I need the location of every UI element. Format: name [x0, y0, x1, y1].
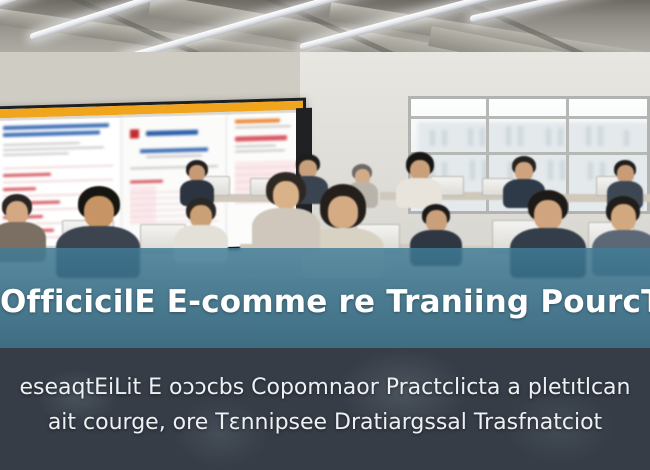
- screenshot-root: OfficicilE E-comme re Traniing PourcTaiw…: [0, 0, 650, 470]
- subtitle-band: eseaqtEiLit E oɔɔcbs Copomnaor Practclic…: [0, 348, 650, 470]
- title-band: OfficicilE E-comme re Traniing PourcTaiw…: [0, 248, 650, 348]
- site-logo-icon: [130, 130, 139, 139]
- subtitle-line-1: eseaqtEiLit E oɔɔcbs Copomnaor Practclic…: [0, 375, 650, 400]
- ceiling-light: [469, 0, 650, 23]
- subtitle-line-2: ait courge, ore Tɛnnipsee Dratiargssal T…: [0, 410, 650, 435]
- page-title: OfficicilE E-comme re Traniing PourcTaiw…: [0, 284, 650, 320]
- ceiling: [0, 0, 650, 58]
